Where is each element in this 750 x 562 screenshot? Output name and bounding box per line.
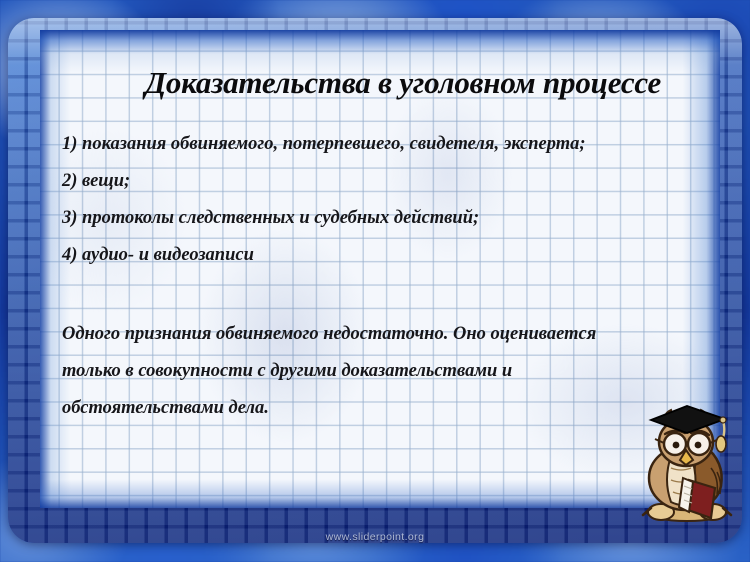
list-item: 1) показания обвиняемого, потерпевшего, …	[62, 126, 702, 163]
slide-canvas: Доказательства в уголовном процессе 1) п…	[0, 0, 750, 562]
paragraph-line: Одного признания обвиняемого недостаточн…	[62, 316, 707, 353]
list-item: 4) аудио- и видеозаписи	[62, 237, 702, 274]
list-item: 2) вещи;	[62, 163, 702, 200]
owl-graduate-icon	[631, 396, 743, 524]
paragraph-line: обстоятельствами дела.	[62, 390, 707, 427]
watermark: www.sliderpoint.org	[0, 531, 750, 543]
page-title: Доказательства в уголовном процессе	[103, 66, 703, 100]
evidence-list: 1) показания обвиняемого, потерпевшего, …	[62, 126, 702, 274]
slide-content: Доказательства в уголовном процессе 1) п…	[40, 30, 720, 508]
grid-paper-sheet: Доказательства в уголовном процессе 1) п…	[40, 30, 720, 508]
list-item: 3) протоколы следственных и судебных дей…	[62, 200, 702, 237]
summary-paragraph: Одного признания обвиняемого недостаточн…	[62, 316, 707, 427]
paragraph-line: только в совокупности с другими доказате…	[62, 353, 707, 390]
